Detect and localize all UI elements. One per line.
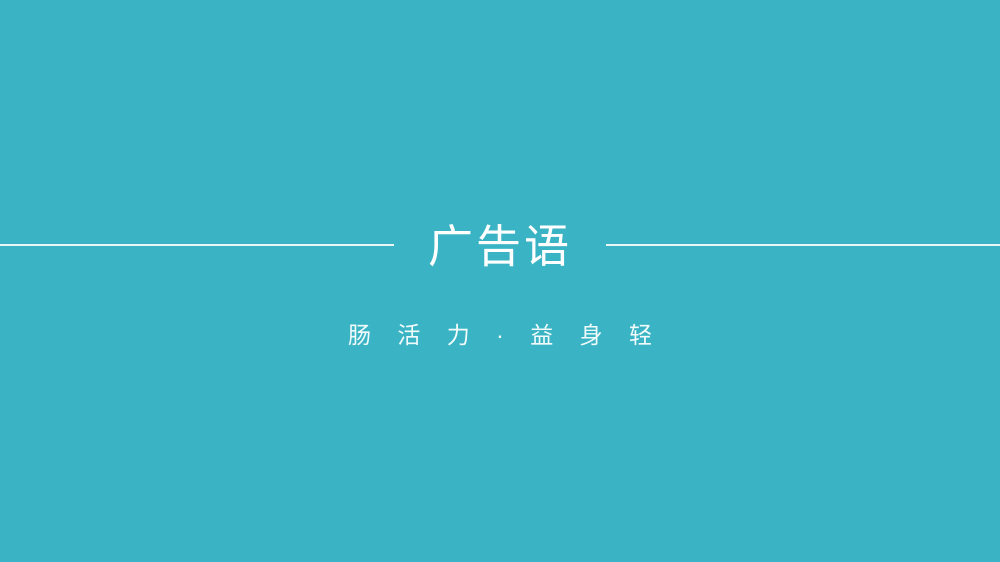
title-band: 广告语 [0,0,1000,526]
slide-canvas: 广告语 肠 活 力 · 益 身 轻 [0,0,1000,562]
title-divider-right [606,244,1000,246]
title-divider-left [0,244,394,246]
slide-subtitle: 肠 活 力 · 益 身 轻 [0,322,1000,350]
page-title: 广告语 [426,224,574,269]
